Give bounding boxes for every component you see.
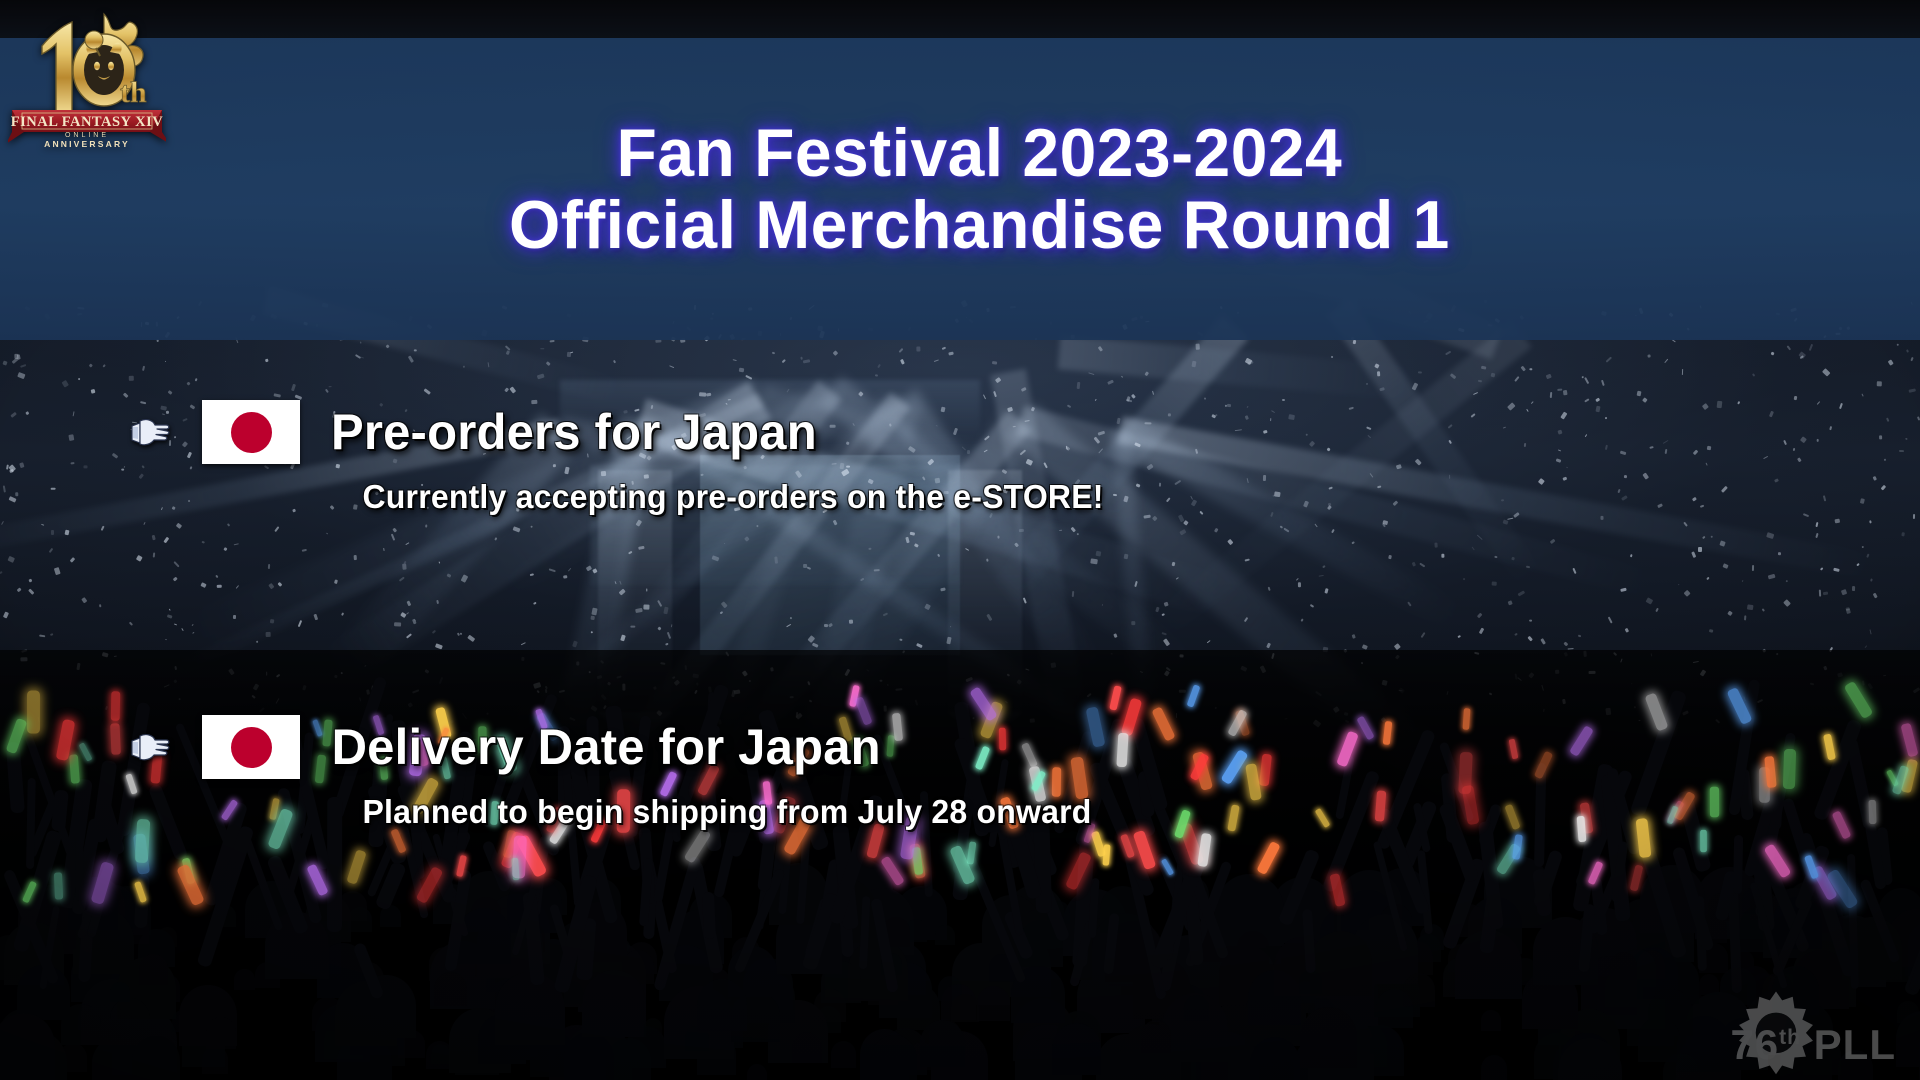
section-title: Pre-orders for Japan [331, 403, 817, 461]
ffxiv-10th-anniversary-logo: th FINAL FANTASY XIV ONLINE ANNIVERSARY [8, 6, 166, 148]
japan-flag-icon [202, 715, 300, 779]
title-line-2: Official Merchandise Round 1 [509, 189, 1450, 261]
flag-sun-disc [231, 727, 272, 768]
pointing-hand-icon [126, 727, 174, 767]
slide-canvas: Fan Festival 2023-2024 Official Merchand… [0, 0, 1920, 1080]
title-line-1: Fan Festival 2023-2024 [509, 117, 1450, 189]
japan-flag-icon [202, 400, 300, 464]
pointing-hand-icon [126, 412, 174, 452]
svg-text:ANNIVERSARY: ANNIVERSARY [44, 139, 130, 148]
slide-content: Pre-orders for Japan Currently accepting… [0, 340, 1920, 1080]
section-heading-row: Delivery Date for Japan [0, 715, 1920, 779]
svg-text:th: th [120, 76, 147, 109]
watermark-label: 76th PLL [1730, 1024, 1896, 1066]
section-subtext: Planned to begin shipping from July 28 o… [29, 793, 1891, 831]
flag-sun-disc [231, 412, 272, 453]
section-heading-row: Pre-orders for Japan [0, 400, 1920, 464]
svg-text:FINAL FANTASY XIV: FINAL FANTASY XIV [11, 114, 163, 130]
watermark-number: 76 [1730, 1021, 1779, 1068]
pll-watermark: 76th PLL [1730, 1024, 1896, 1066]
page-title: Fan Festival 2023-2024 Official Merchand… [470, 117, 1450, 261]
svg-text:ONLINE: ONLINE [65, 132, 109, 139]
watermark-pll: PLL [1814, 1021, 1896, 1068]
title-banner: Fan Festival 2023-2024 Official Merchand… [0, 38, 1920, 340]
section-delivery-date: Delivery Date for Japan Planned to begin… [0, 715, 1920, 831]
watermark-ordinal: th [1779, 1026, 1801, 1049]
top-black-strip [0, 0, 1920, 38]
section-pre-orders: Pre-orders for Japan Currently accepting… [0, 400, 1920, 516]
section-subtext: Currently accepting pre-orders on the e-… [29, 478, 1891, 516]
section-title: Delivery Date for Japan [332, 718, 881, 776]
